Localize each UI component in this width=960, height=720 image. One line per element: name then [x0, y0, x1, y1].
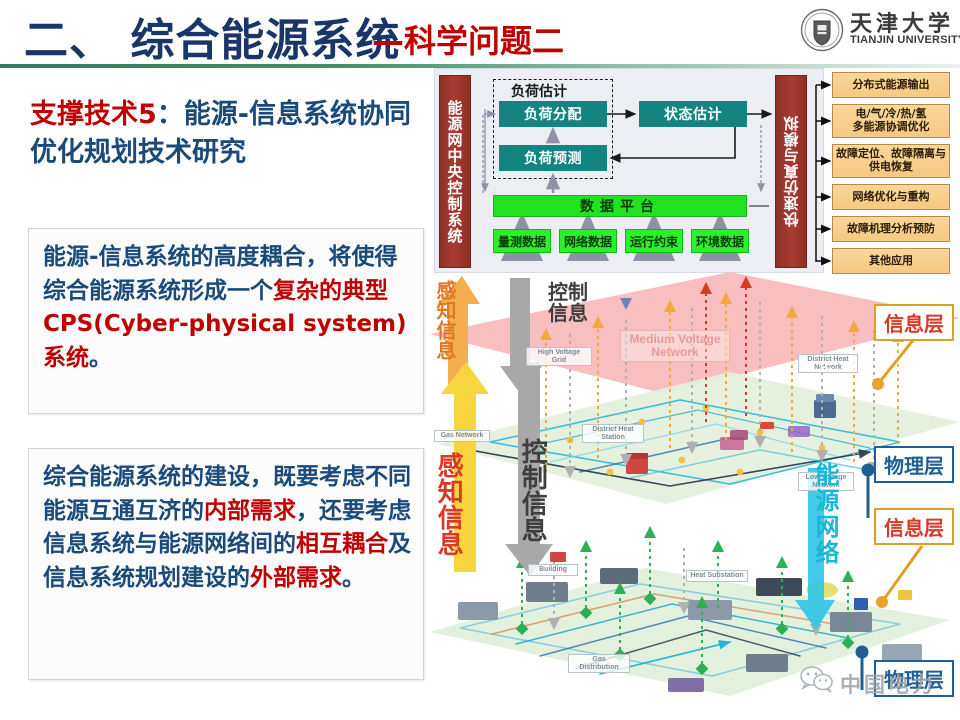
plane-tag-gas-network: Gas Network [434, 430, 490, 442]
application-box-2[interactable]: 故障定位、故障隔离与供电恢复 [832, 144, 950, 178]
logo-name-en: TIANJIN UNIVERSITY [850, 34, 960, 46]
plane-tag-medium-voltage-network: Medium Voltage Network [620, 330, 730, 362]
application-box-5[interactable]: 其他应用 [832, 248, 950, 274]
arrow-label-sense-lower: 感知信息 [434, 452, 461, 556]
application-box-4[interactable]: 故障机理分析预防 [832, 216, 950, 242]
arrow-label-control-lower: 控制信息 [518, 438, 545, 542]
hydrogen-tag: H₂ [820, 362, 833, 374]
university-logo: 天津大学 TIANJIN UNIVERSITY [800, 6, 950, 56]
text-box-demand: 综合能源系统的建设，既要考虑不同能源互通互济的内部需求，还要考虑信息系统与能源网… [28, 448, 424, 680]
support-tech-prefix: 支撑技术5 [30, 99, 157, 130]
data-source-2[interactable]: 运行约束 [625, 229, 683, 253]
layer-label-info-top: 信息层 [874, 304, 954, 341]
central-control-flowchart: 能源网中央控制系统 快速仿真与模拟 负荷估计 负荷分配 负荷预测 状态估计 [434, 68, 824, 273]
plane-tag-heat-substation: Heat Substation [686, 570, 748, 582]
application-connectors [812, 72, 836, 282]
application-box-3[interactable]: 网络优化与重构 [832, 184, 950, 210]
data-platform-bar: 数据平台 [493, 195, 747, 217]
energy-network-label: 能源网络 [808, 462, 843, 566]
wechat-icon [800, 665, 834, 693]
application-box-1[interactable]: 电/气/冷/热/氢多能源协调优化 [832, 104, 950, 138]
plane-tag-district-heat-station: District Heat Station [582, 424, 644, 443]
arrow-label-sense-upper: 感知信息 [434, 280, 455, 360]
layer-label-physical-top: 物理层 [874, 446, 954, 483]
data-source-3[interactable]: 环境数据 [691, 229, 749, 253]
layer-label-info-bottom: 信息层 [874, 508, 954, 545]
watermark-text: 中国电力 [840, 669, 936, 699]
page-subtitle: —科学问题二 [372, 16, 564, 62]
support-tech-heading: 支撑技术5：能源-信息系统协同优化规划技术研究 [30, 96, 430, 173]
page-title: 二、 综合能源系统 [24, 4, 400, 68]
plane-tag-building: Building [528, 564, 578, 576]
watermark: 中国电力 [800, 665, 950, 705]
arrow-label-control-upper: 控制信息 [548, 282, 606, 324]
data-source-1[interactable]: 网络数据 [559, 229, 617, 253]
plane-tag-high-voltage-grid: High Voltage Grid [526, 347, 592, 366]
data-source-0[interactable]: 量测数据 [493, 229, 551, 253]
slide-header: 二、 综合能源系统 —科学问题二 天津大学 TIANJIN UNIVERSITY [0, 0, 960, 68]
text-box-cps: 能源-信息系统的高度耦合，将使得综合能源系统形成一个复杂的典型CPS(Cyber… [28, 228, 424, 414]
plane-tag-gas-distribution: Gas Distribution [568, 654, 630, 673]
slide-root: 二、 综合能源系统 —科学问题二 天津大学 TIANJIN UNIVERSITY… [0, 0, 960, 720]
tianjin-university-seal-icon [800, 8, 844, 52]
application-box-0[interactable]: 分布式能源输出 [832, 72, 950, 98]
